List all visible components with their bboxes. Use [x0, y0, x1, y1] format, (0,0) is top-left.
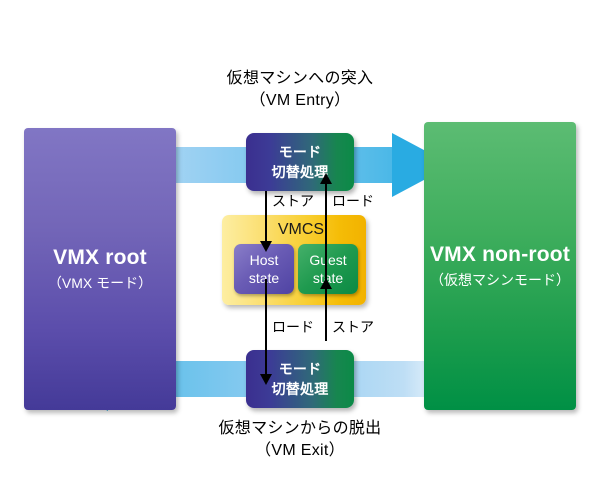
- mode-switch-entry-text: モード 切替処理: [246, 142, 354, 182]
- load-label-top: ロード: [332, 192, 374, 210]
- vmx-root-text: VMX root （VMX モード）: [24, 244, 176, 294]
- vmx-non-root-box: VMX non-root （仮想マシンモード）: [424, 122, 576, 410]
- vmx-non-root-title: VMX non-root: [424, 241, 576, 268]
- arrow-tip-down-icon: [260, 374, 272, 385]
- arrow-tip-up-icon: [320, 173, 332, 184]
- store-label-top: ストア: [272, 192, 314, 210]
- load-arrow-bottom: [265, 279, 267, 375]
- vmx-non-root-subtitle: （仮想マシンモード）: [424, 270, 576, 291]
- mode-switch-entry-line1: モード: [246, 142, 354, 162]
- store-label-bottom: ストア: [332, 318, 374, 336]
- vmx-root-subtitle: （VMX モード）: [24, 273, 176, 294]
- store-arrow-top: [265, 191, 267, 242]
- arrow-tip-up-icon: [320, 278, 332, 289]
- vmcs-label: VMCS: [222, 220, 366, 240]
- vmx-non-root-text: VMX non-root （仮想マシンモード）: [424, 241, 576, 291]
- caption-vm-entry: 仮想マシンへの突入 （VM Entry）: [0, 68, 600, 112]
- guest-state-line1: Guest: [298, 251, 358, 269]
- vmcs-box: VMCS Host state Guest state: [222, 215, 366, 305]
- caption-vm-entry-line1: 仮想マシンへの突入: [0, 68, 600, 90]
- host-state-text: Host state: [234, 251, 294, 287]
- vmx-root-title: VMX root: [24, 244, 176, 271]
- mode-switch-box-entry: モード 切替処理: [246, 133, 354, 191]
- load-label-bottom: ロード: [272, 318, 314, 336]
- caption-vm-exit-line2: （VM Exit）: [0, 440, 600, 462]
- caption-vm-entry-line2: （VM Entry）: [0, 90, 600, 112]
- caption-vm-exit: 仮想マシンからの脱出 （VM Exit）: [0, 418, 600, 462]
- arrow-tip-down-icon: [260, 241, 272, 252]
- caption-vm-exit-line1: 仮想マシンからの脱出: [0, 418, 600, 440]
- mode-switch-entry-line2: 切替処理: [246, 162, 354, 182]
- vmx-mode-transition-diagram: 仮想マシンへの突入 （VM Entry） VMX root （VMX モード） …: [0, 0, 600, 500]
- load-arrow-top: [325, 183, 327, 283]
- host-state-line1: Host: [234, 251, 294, 269]
- vmx-root-box: VMX root （VMX モード）: [24, 128, 176, 410]
- store-arrow-bottom: [325, 288, 327, 341]
- host-state-line2: state: [234, 269, 294, 287]
